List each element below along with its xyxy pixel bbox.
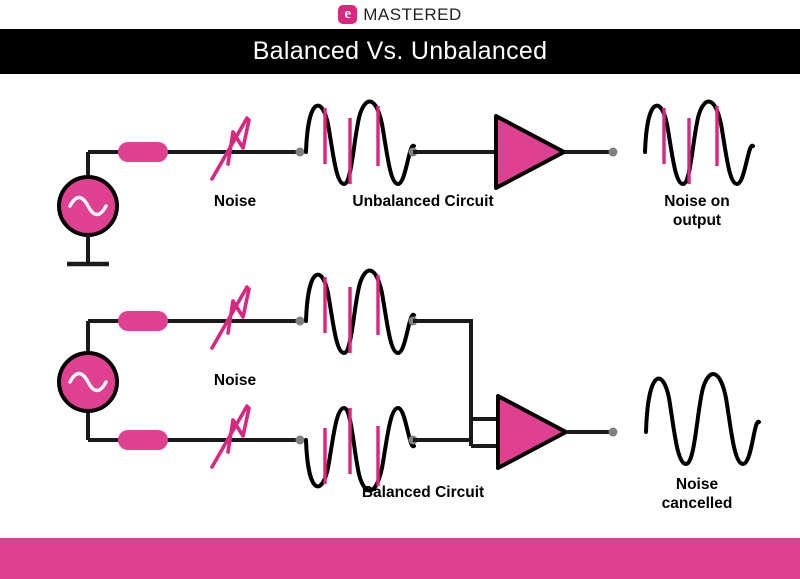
unbalanced-noise-symbol	[212, 118, 249, 179]
brand-wordmark: MASTERED	[363, 5, 461, 25]
emastered-logo-icon: e	[338, 5, 357, 24]
differential-input-wires	[413, 321, 499, 446]
unbalanced-noise-label: Noise	[214, 193, 257, 210]
unbalanced-output-label-line2: output	[673, 212, 721, 229]
footer-accent-bar	[0, 538, 800, 579]
unbalanced-circuit-group: Noise Unbalanced Circuit Noise on output	[59, 102, 753, 264]
node-dot	[296, 317, 305, 326]
balanced-output-waveform-clean	[646, 374, 759, 464]
balanced-amplifier	[498, 396, 566, 468]
balanced-output-label-line2: cancelled	[662, 495, 733, 512]
balanced-noise-symbol-hot	[212, 287, 249, 348]
balanced-ac-source	[59, 321, 117, 440]
node-dot	[296, 436, 305, 445]
unbalanced-output-label-line1: Noise on	[664, 193, 729, 210]
node-dot	[609, 428, 618, 437]
circuit-diagram: Noise Unbalanced Circuit Noise on output	[0, 74, 800, 538]
balanced-circuit-label: Balanced Circuit	[362, 484, 484, 501]
unbalanced-output-waveform	[645, 102, 753, 184]
unbalanced-amplifier	[496, 116, 564, 188]
title-band: Balanced Vs. Unbalanced	[0, 29, 800, 74]
infographic-page: e MASTERED Balanced Vs. Unbalanced	[0, 0, 800, 579]
balanced-noise-symbol-cold	[212, 406, 249, 467]
unbalanced-noisy-waveform	[306, 102, 414, 184]
unbalanced-resistor	[118, 142, 168, 162]
balanced-resistor-cold	[118, 430, 168, 450]
balanced-noisy-waveform-cold	[306, 408, 414, 490]
logo-letter: e	[344, 7, 351, 22]
balanced-noise-label: Noise	[214, 372, 257, 389]
node-dot	[296, 148, 305, 157]
balanced-output-label-line1: Noise	[676, 476, 719, 493]
brand-header: e MASTERED	[0, 0, 800, 29]
page-title: Balanced Vs. Unbalanced	[253, 37, 548, 66]
unbalanced-ac-source	[59, 152, 117, 264]
balanced-resistor-hot	[118, 311, 168, 331]
unbalanced-circuit-label: Unbalanced Circuit	[352, 193, 493, 210]
balanced-noisy-waveform-hot	[306, 271, 414, 353]
node-dot	[609, 148, 618, 157]
balanced-circuit-group: Noise Balanced Circuit Noise cancelled	[59, 271, 759, 512]
